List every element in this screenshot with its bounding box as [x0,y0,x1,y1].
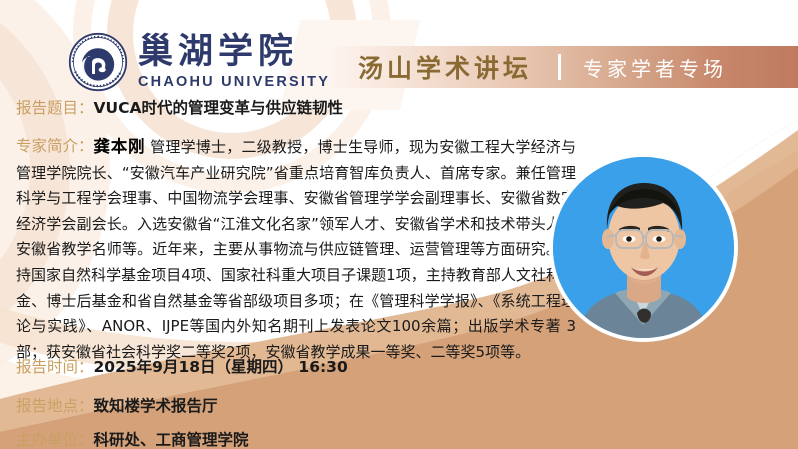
seminar-poster: 巢湖学院 CHAOHU UNIVERSITY 汤山学术讲坛 专家学者专场 报告题… [0,0,798,449]
speaker-bio-body: 管理学博士，二级教授，博士生导师，现为安徽工程大学经济与管理学院院长、“安徽汽车… [16,138,576,361]
report-time-label: 报告时间： [16,355,94,377]
report-title-row: 报告题目： VUCA时代的管理变革与供应链韧性 [16,96,343,118]
speaker-bio-block: 专家简介： 龚本刚 管理学博士，二级教授，博士生导师，现为安徽工程大学经济与管理… [16,134,576,365]
report-host-value: 科研处、工商管理学院 [94,428,249,449]
report-place-label: 报告地点： [16,394,94,416]
report-place-row: 报告地点： 致知楼学术报告厅 [16,394,218,416]
report-place-value: 致知楼学术报告厅 [94,394,218,416]
report-title-value: VUCA时代的管理变革与供应链韧性 [94,96,343,118]
speaker-name: 龚本刚 [94,137,146,156]
report-host-label: 主办单位： [16,428,94,449]
speaker-portrait [553,157,734,338]
report-title-label: 报告题目： [16,96,94,118]
report-time-value: 2025年9月18日（星期四） 16:30 [94,355,348,377]
report-host-row: 主办单位： 科研处、工商管理学院 [16,428,249,449]
speaker-bio-text: 龚本刚 管理学博士，二级教授，博士生导师，现为安徽工程大学经济与管理学院院长、“… [16,134,576,365]
speaker-bio-label: 专家简介： [16,134,94,160]
report-time-row: 报告时间： 2025年9月18日（星期四） 16:30 [16,355,348,377]
